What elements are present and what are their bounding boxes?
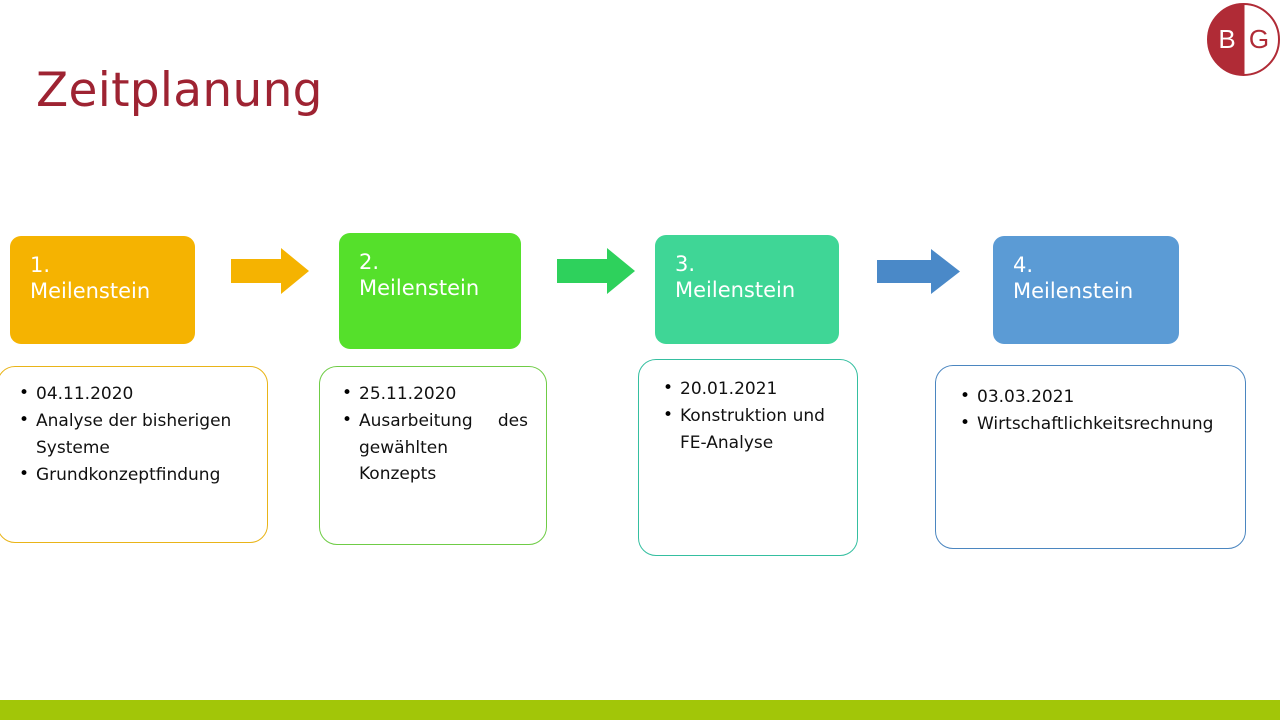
detail-list-1: 04.11.2020 Analyse der bisherigen System… <box>19 381 253 488</box>
milestone-2-number: 2. <box>359 249 521 275</box>
detail-card-1: 04.11.2020 Analyse der bisherigen System… <box>0 366 268 543</box>
bg-logo: B G <box>1207 3 1280 76</box>
milestone-3-number: 3. <box>675 251 839 277</box>
milestone-4-label: Meilenstein <box>1013 278 1179 304</box>
milestone-box-4[interactable]: 4. Meilenstein <box>993 236 1179 344</box>
milestone-1-number: 1. <box>30 252 195 278</box>
list-item: 04.11.2020 <box>19 381 253 407</box>
footer-accent-bar <box>0 700 1280 720</box>
list-item: 20.01.2021 <box>663 376 843 402</box>
detail-card-4: 03.03.2021 Wirtschaftlichkeitsrechnung <box>935 365 1246 549</box>
list-item: 03.03.2021 <box>960 384 1231 410</box>
arrow-1-shape <box>231 248 309 294</box>
milestone-2-label: Meilenstein <box>359 275 521 301</box>
detail-card-3: 20.01.2021 Konstruktion und FE-Analyse <box>638 359 858 556</box>
arrow-3-svg <box>877 249 960 294</box>
logo-letter-g: G <box>1249 24 1269 54</box>
bg-logo-svg: B G <box>1207 3 1280 76</box>
arrow-2-svg <box>557 248 635 294</box>
arrow-right-icon-3 <box>877 249 960 294</box>
detail-list-2: 25.11.2020 Ausarbeitung des gewählten Ko… <box>342 381 528 487</box>
detail-list-3: 20.01.2021 Konstruktion und FE-Analyse <box>663 376 843 456</box>
list-item: Konstruktion und FE-Analyse <box>663 403 843 456</box>
milestone-box-2[interactable]: 2. Meilenstein <box>339 233 521 349</box>
milestone-1-label: Meilenstein <box>30 278 195 304</box>
logo-letter-b: B <box>1218 24 1235 54</box>
arrow-right-icon-2 <box>557 248 635 294</box>
arrow-right-icon-1 <box>231 248 309 294</box>
arrow-1-svg <box>231 248 309 294</box>
arrow-3-shape <box>877 249 960 294</box>
list-item: Wirtschaftlichkeitsrechnung <box>960 411 1231 437</box>
milestone-box-3[interactable]: 3. Meilenstein <box>655 235 839 344</box>
list-item: Analyse der bisherigen Systeme <box>19 408 253 461</box>
milestone-4-number: 4. <box>1013 252 1179 278</box>
detail-card-2: 25.11.2020 Ausarbeitung des gewählten Ko… <box>319 366 547 545</box>
list-item: Grundkonzeptfindung <box>19 462 253 488</box>
milestone-3-label: Meilenstein <box>675 277 839 303</box>
detail-list-4: 03.03.2021 Wirtschaftlichkeitsrechnung <box>960 384 1231 438</box>
page-title: Zeitplanung <box>36 64 323 118</box>
milestone-box-1[interactable]: 1. Meilenstein <box>10 236 195 344</box>
list-item: Ausarbeitung des gewählten Konzepts <box>342 408 528 487</box>
arrow-2-shape <box>557 248 635 294</box>
list-item: 25.11.2020 <box>342 381 528 407</box>
